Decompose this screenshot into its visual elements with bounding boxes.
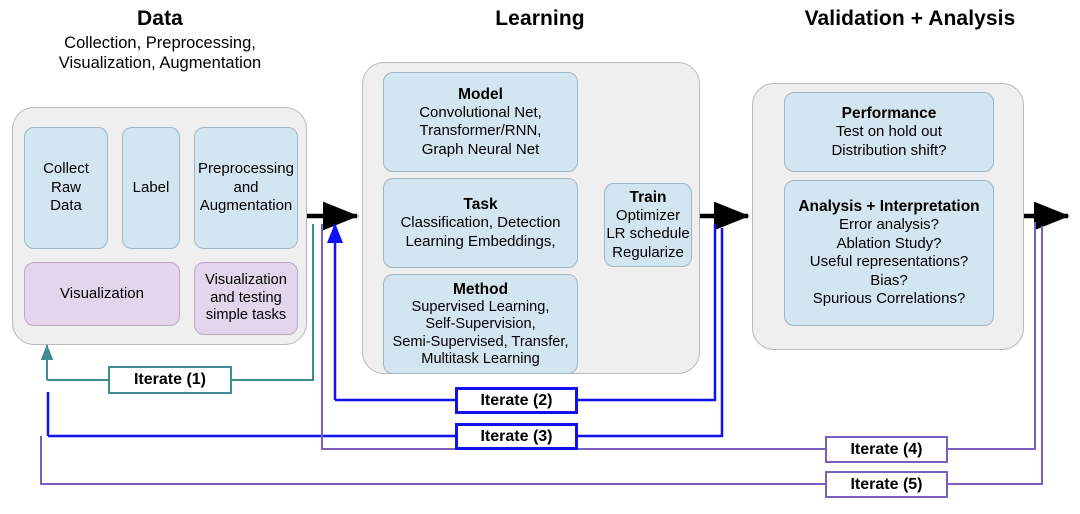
node-line: Label — [133, 179, 170, 198]
node-visualization-and-testing[interactable]: Visualization and testing simple tasks — [194, 262, 298, 335]
node-line: Semi-Supervised, Transfer, — [392, 334, 568, 352]
node-line: Data — [50, 197, 82, 216]
node-line: Bias? — [870, 272, 908, 291]
node-method[interactable]: Method Supervised Learning, Self-Supervi… — [383, 274, 578, 374]
node-analysis-interpretation[interactable]: Analysis + Interpretation Error analysis… — [784, 180, 994, 326]
node-collect-raw-data[interactable]: Collect Raw Data — [24, 127, 108, 249]
node-visualization[interactable]: Visualization — [24, 262, 180, 326]
node-preprocessing-augmentation[interactable]: Preprocessing and Augmentation — [194, 127, 298, 249]
node-line: Collect — [43, 160, 89, 179]
node-heading: Model — [458, 85, 503, 104]
node-line: and testing — [210, 290, 281, 308]
iterate-1-box[interactable]: Iterate (1) — [108, 366, 232, 394]
node-line: Self-Supervision, — [425, 316, 535, 334]
node-line: Ablation Study? — [836, 235, 941, 254]
node-line: Visualization — [205, 272, 287, 290]
node-line: Supervised Learning, — [412, 299, 550, 317]
node-line: Visualization — [60, 285, 144, 304]
iterate-5-box[interactable]: Iterate (5) — [825, 471, 948, 498]
node-line: Classification, Detection — [400, 214, 560, 233]
node-heading: Train — [629, 188, 666, 207]
node-line: Error analysis? — [839, 216, 939, 235]
node-line: Test on hold out — [836, 123, 942, 142]
node-line: Regularize — [612, 244, 684, 263]
node-heading: Method — [453, 280, 508, 299]
iterate-3-box[interactable]: Iterate (3) — [455, 423, 578, 450]
node-line: simple tasks — [206, 307, 286, 325]
node-line: Graph Neural Net — [422, 141, 540, 160]
node-line: LR schedule — [606, 225, 689, 244]
node-heading: Task — [463, 195, 497, 214]
node-line: Learning Embeddings, — [405, 233, 555, 252]
node-line: Multitask Learning — [421, 351, 539, 369]
node-line: Optimizer — [616, 207, 680, 226]
node-model[interactable]: Model Convolutional Net, Transformer/RNN… — [383, 72, 578, 172]
iterate-2-box[interactable]: Iterate (2) — [455, 387, 578, 414]
node-line: Transformer/RNN, — [420, 122, 542, 141]
node-task[interactable]: Task Classification, Detection Learning … — [383, 178, 578, 268]
diagram-canvas: Data Collection, Preprocessing, Visualiz… — [0, 0, 1080, 514]
node-performance[interactable]: Performance Test on hold out Distributio… — [784, 92, 994, 172]
node-line: Augmentation — [200, 197, 293, 216]
node-line: Raw — [51, 179, 81, 198]
node-line: and — [233, 179, 258, 198]
node-heading: Performance — [842, 104, 937, 123]
node-label[interactable]: Label — [122, 127, 180, 249]
node-line: Preprocessing — [198, 160, 294, 179]
node-line: Convolutional Net, — [419, 104, 542, 123]
node-train[interactable]: Train Optimizer LR schedule Regularize — [604, 183, 692, 267]
iterate-4-box[interactable]: Iterate (4) — [825, 436, 948, 463]
node-line: Useful representations? — [810, 253, 968, 272]
node-line: Distribution shift? — [831, 142, 946, 161]
node-line: Spurious Correlations? — [813, 290, 966, 309]
node-heading: Analysis + Interpretation — [798, 197, 979, 216]
